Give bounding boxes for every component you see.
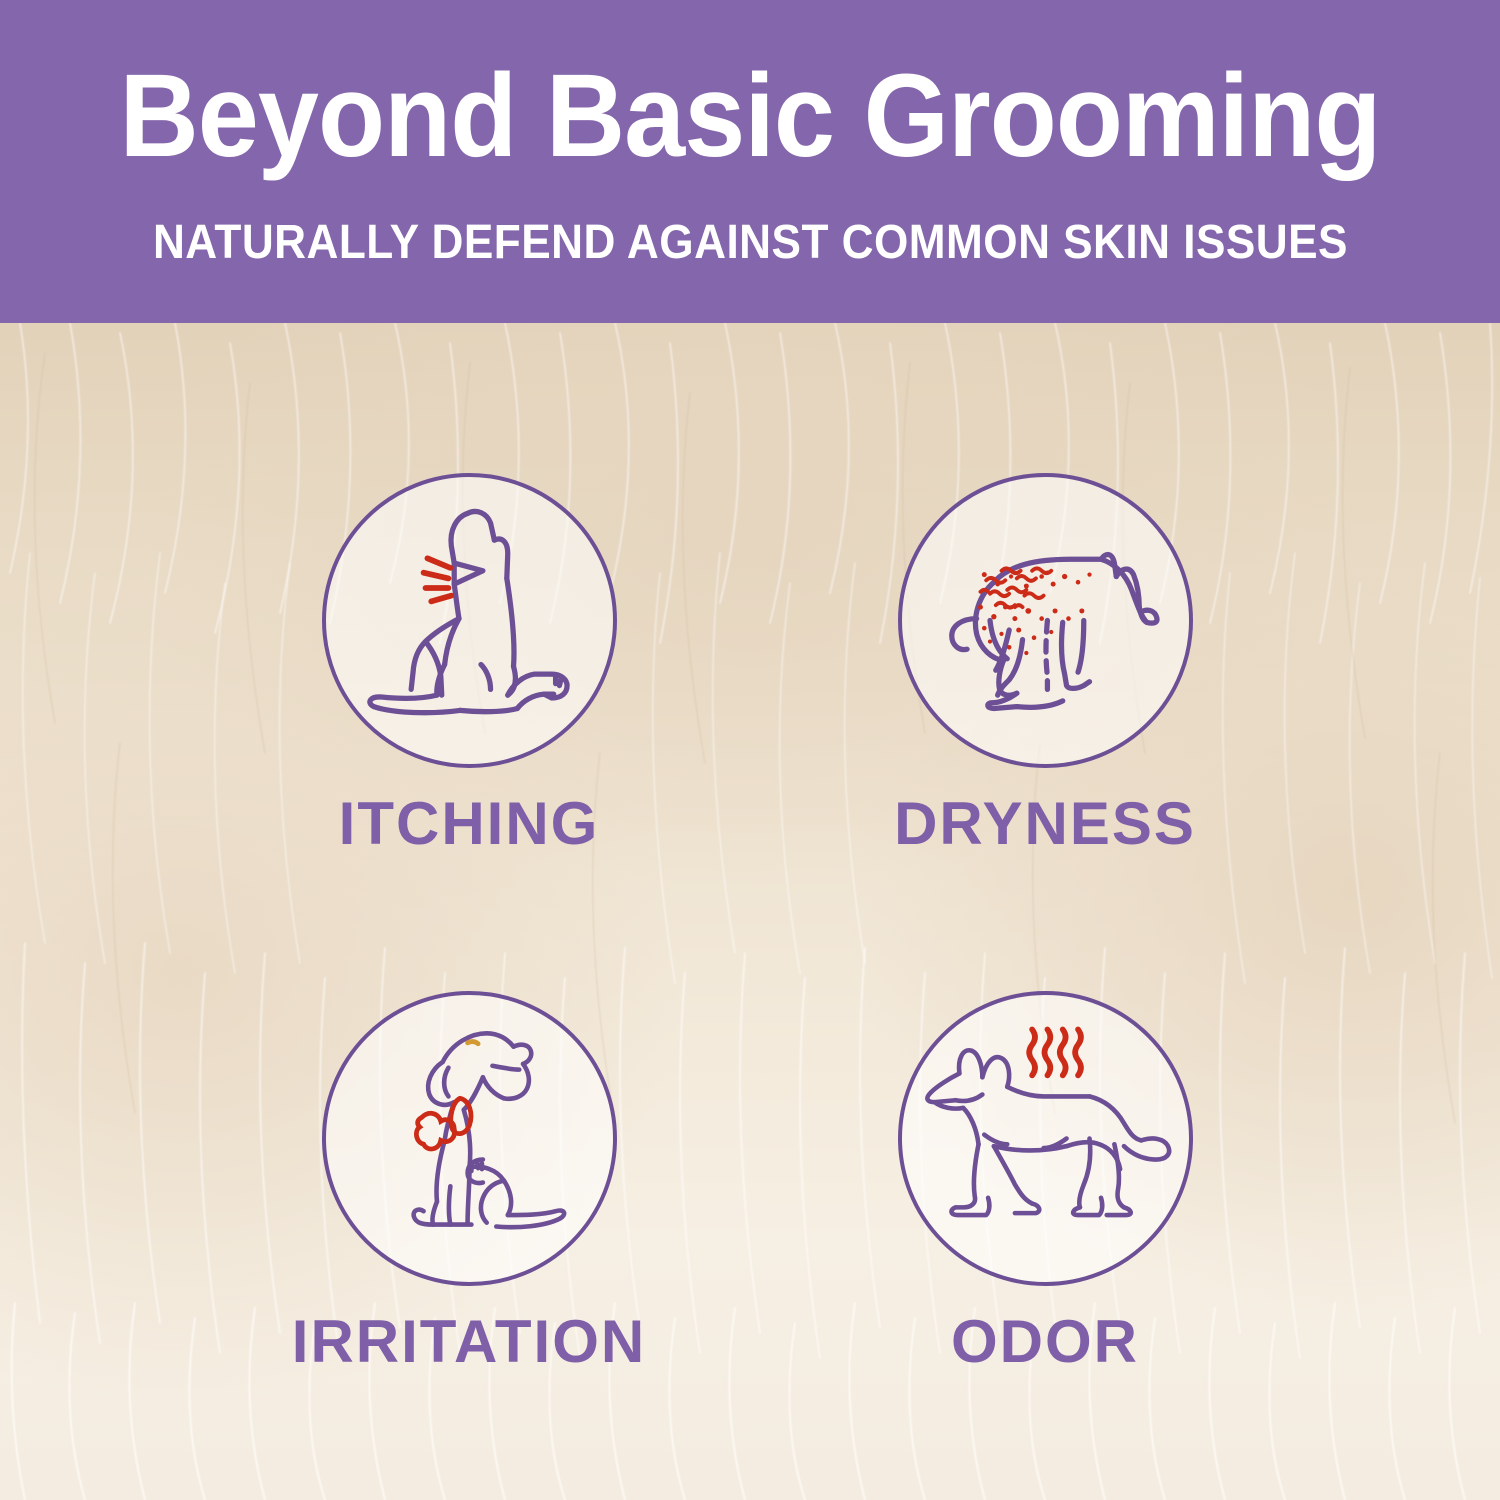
issue-card-dryness[interactable]: DRYNESS [745, 473, 1345, 854]
page-subtitle: NATURALLY DEFEND AGAINST COMMON SKIN ISS… [152, 219, 1347, 267]
issue-card-itching[interactable]: ITCHING [169, 473, 769, 854]
poster: Beyond Basic Grooming NATURALLY DEFEND A… [0, 0, 1500, 1500]
issue-card-odor[interactable]: ODOR [745, 991, 1345, 1372]
issue-label-odor: ODOR [745, 1312, 1345, 1372]
dryness-circle [898, 473, 1193, 768]
issue-label-itching: ITCHING [169, 794, 769, 854]
issue-label-dryness: DRYNESS [745, 794, 1345, 854]
page-title: Beyond Basic Grooming [120, 57, 1381, 175]
itching-circle [322, 473, 617, 768]
odor-circle [898, 991, 1193, 1286]
irritation-circle [322, 991, 617, 1286]
issue-label-irritation: IRRITATION [169, 1312, 769, 1372]
header-band: Beyond Basic Grooming NATURALLY DEFEND A… [0, 0, 1500, 323]
issue-card-irritation[interactable]: IRRITATION [169, 991, 769, 1372]
skin-issues-grid: ITCHING [0, 323, 1500, 1500]
